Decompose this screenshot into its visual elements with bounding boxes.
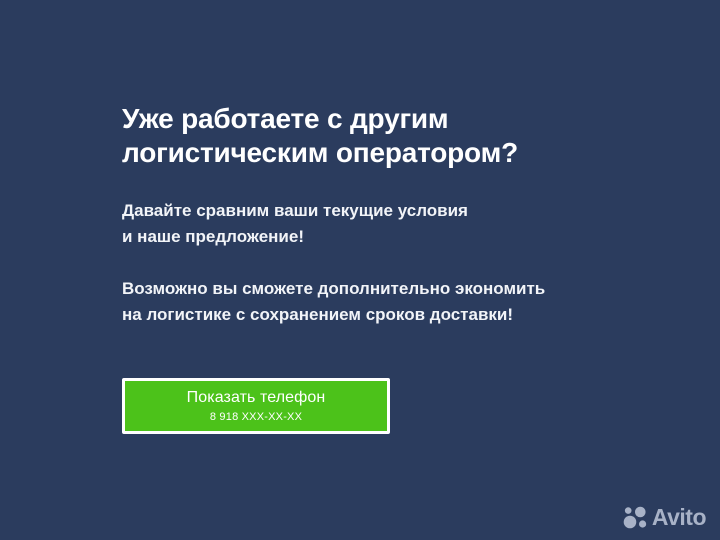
show-phone-button[interactable]: Показать телефон 8 918 XXX-XX-XX [122,378,390,434]
show-phone-button-label: Показать телефон [187,389,326,407]
headline-line-1: Уже работаете с другим [122,102,642,136]
body-paragraph-1: Давайте сравним ваши текущие условия и н… [122,198,642,250]
body-paragraph-2: Возможно вы сможете дополнительно эконом… [122,276,642,328]
avito-wordmark: Avito [652,506,706,529]
body-paragraph-1-line-2: и наше предложение! [122,224,642,250]
avito-watermark: Avito [622,504,706,530]
ad-banner: Уже работаете с другим логистическим опе… [0,0,720,540]
body-paragraph-2-line-2: на логистике с сохранением сроков достав… [122,302,642,328]
avito-dots-icon [622,504,648,530]
body-paragraph-1-line-1: Давайте сравним ваши текущие условия [122,198,642,224]
page-title: Уже работаете с другим логистическим опе… [122,102,642,170]
body-paragraph-2-line-1: Возможно вы сможете дополнительно эконом… [122,276,642,302]
headline-line-2: логистическим оператором? [122,136,642,170]
masked-phone-number: 8 918 XXX-XX-XX [210,411,302,423]
